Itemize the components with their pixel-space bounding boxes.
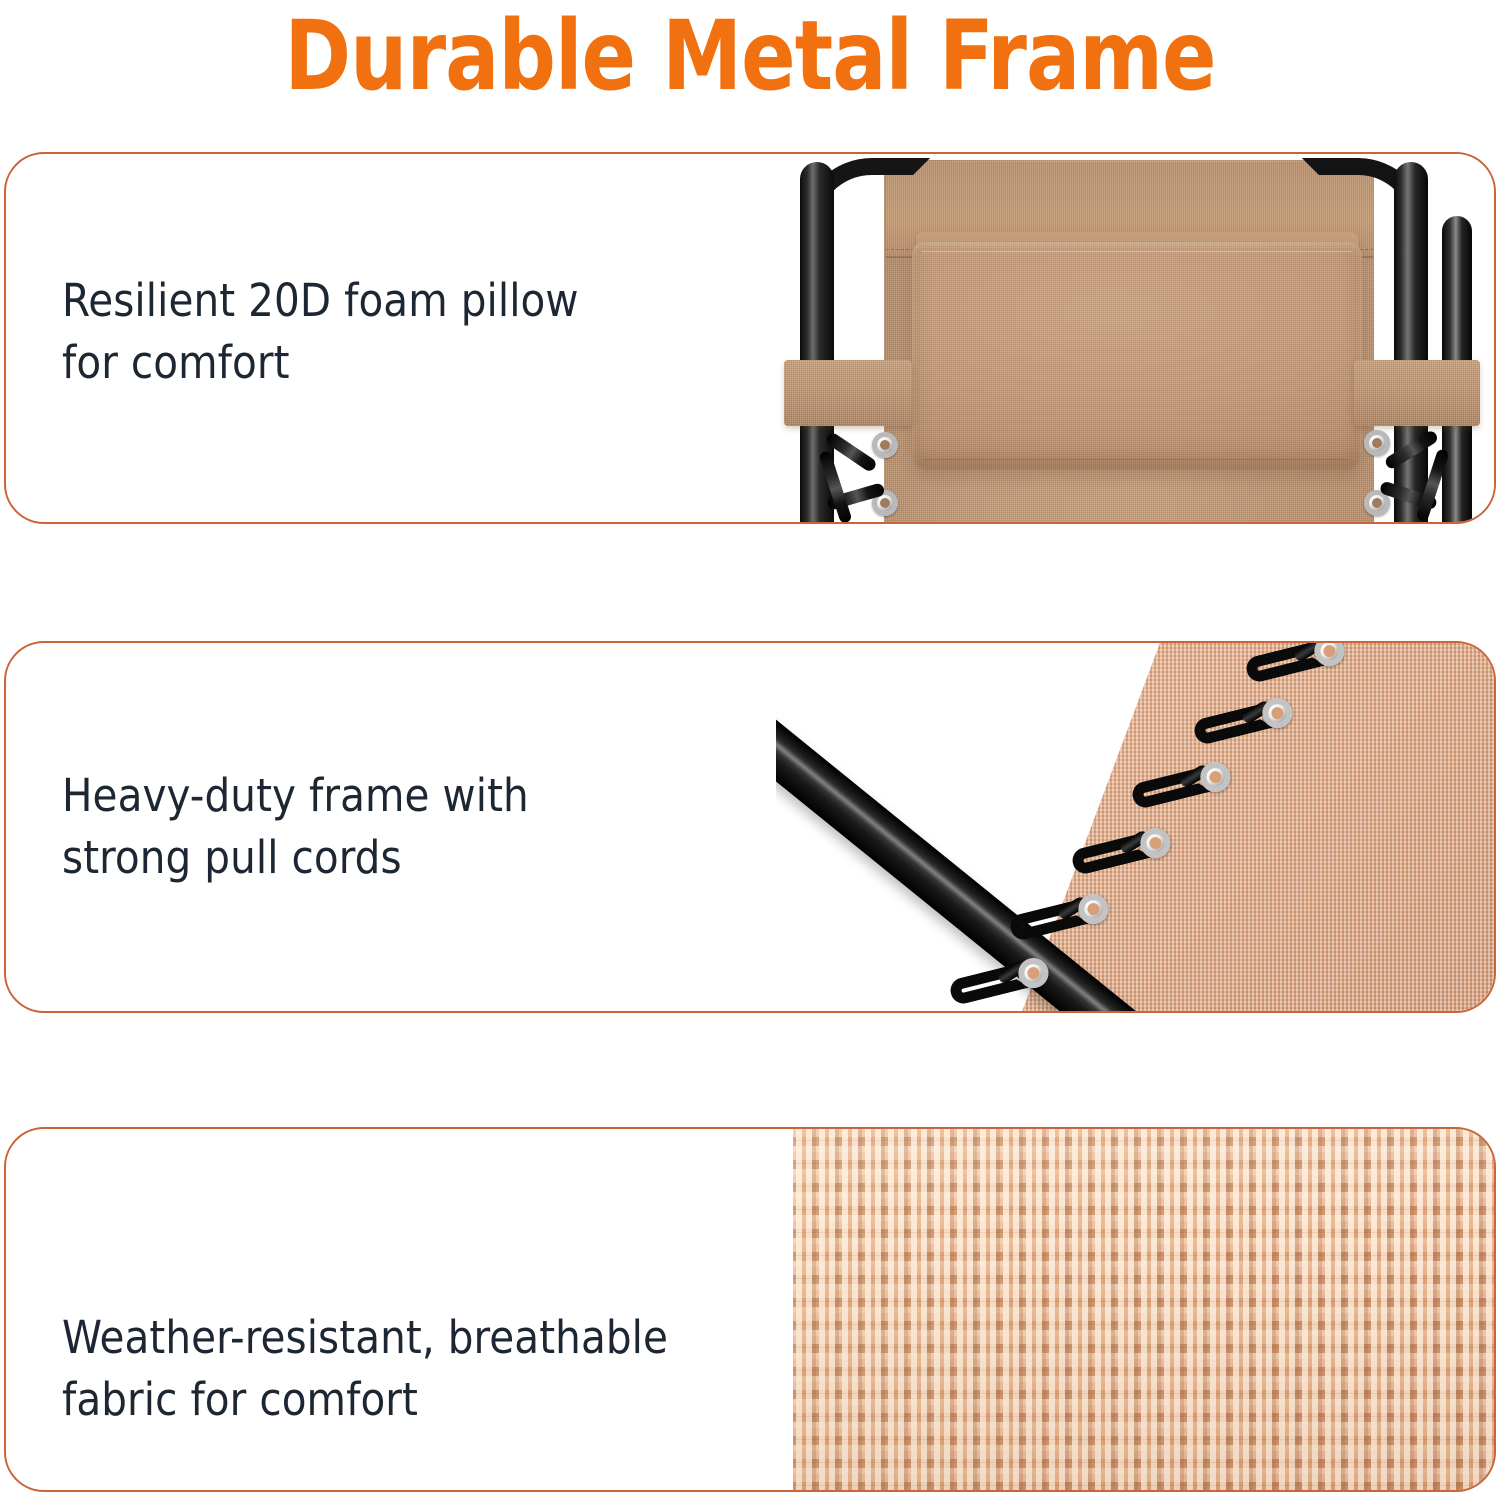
feature-text-line-2: fabric for comfort	[62, 1369, 742, 1431]
feature-card-text: Heavy-duty frame with strong pull cords	[62, 765, 742, 889]
feature-text-line-2: strong pull cords	[62, 827, 742, 889]
fabric-weave-photo: Macro close-up of tan basket-weave texti…	[793, 1129, 1494, 1490]
feature-card-breathable-fabric: Weather-resistant, breathable fabric for…	[4, 1127, 1496, 1492]
feature-card-foam-pillow: Resilient 20D foam pillow for comfort	[4, 152, 1496, 524]
pillow-strap-left	[784, 360, 912, 426]
feature-text-line-1: Weather-resistant, breathable	[62, 1307, 742, 1369]
feature-text-line-1: Resilient 20D foam pillow	[62, 270, 742, 332]
foam-pillow	[912, 242, 1362, 470]
product-photo-pillow: Close-up of a tan chair headrest with a …	[776, 154, 1494, 522]
feature-card-heavy-duty-frame: Heavy-duty frame with strong pull cords	[4, 641, 1496, 1013]
feature-text-line-1: Heavy-duty frame with	[62, 765, 742, 827]
feature-card-text: Weather-resistant, breathable fabric for…	[62, 1307, 742, 1431]
headrest-pillow-photo: Close-up of a tan chair headrest with a …	[776, 154, 1494, 522]
frame-tube-right	[1394, 162, 1428, 522]
feature-card-text: Resilient 20D foam pillow for comfort	[62, 270, 742, 394]
feature-text-line-2: for comfort	[62, 332, 742, 394]
grommet-icon	[872, 432, 898, 458]
pillow-strap-right	[1354, 360, 1480, 426]
grommet-icon	[1364, 430, 1390, 456]
product-photo-fabric: Macro close-up of tan basket-weave texti…	[793, 1129, 1494, 1490]
product-photo-cords: Close-up of a diagonal black metal tube …	[776, 643, 1494, 1011]
pull-cords-photo: Close-up of a diagonal black metal tube …	[776, 643, 1494, 1011]
weave-shading	[793, 1129, 1494, 1490]
page-title: Durable Metal Frame	[53, 2, 1448, 110]
infographic-page: Durable Metal Frame Resilient 20D foam p…	[0, 0, 1500, 1499]
photo-caption: Close-up of a tan chair headrest with a …	[776, 154, 777, 155]
